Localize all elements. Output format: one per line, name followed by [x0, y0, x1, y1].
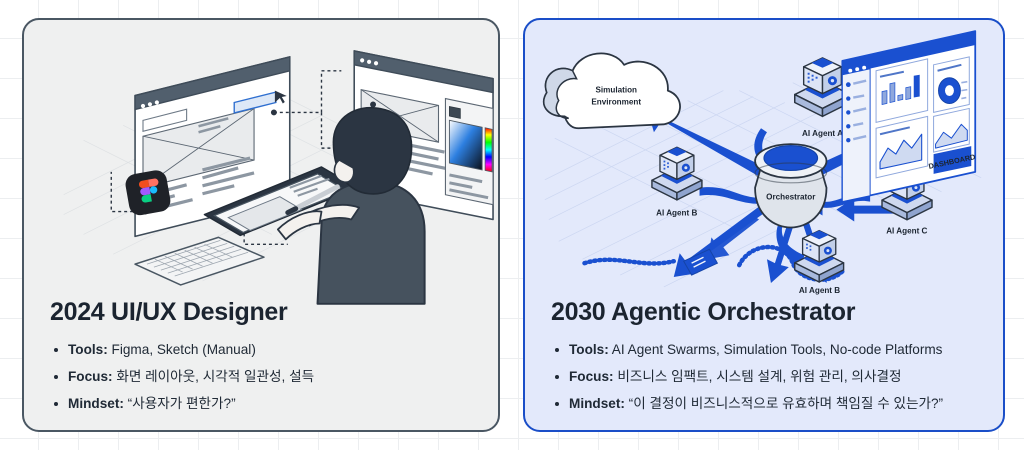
panel-2024-designer: 2024 UI/UX Designer Tools: Figma, Sketch…	[22, 18, 500, 432]
node-ai-agent-b-left: AI Agent B	[652, 147, 702, 217]
list-item: Focus: 비즈니스 임팩트, 시스템 설계, 위험 관리, 의사결정	[551, 367, 977, 387]
node-label-line1: Simulation	[595, 86, 637, 95]
page-title: 2030 Agentic Orchestrator	[551, 298, 977, 327]
node-label: Orchestrator	[766, 193, 816, 202]
panel-2030-orchestrator: Simulation Environment	[523, 18, 1005, 432]
node-label: AI Agent C	[886, 226, 927, 235]
bullet-label: Mindset:	[68, 396, 124, 411]
bullet-label: Mindset:	[569, 396, 625, 411]
bullet-value: Figma, Sketch (Manual)	[112, 342, 256, 357]
node-ai-agent-b-bottom: AI Agent B	[795, 231, 844, 295]
list-item: Focus: 화면 레이아웃, 시각적 일관성, 설득	[50, 367, 472, 387]
node-label: AI Agent B	[656, 209, 697, 218]
bullet-value: “사용자가 편한가?”	[128, 396, 236, 411]
node-analytics-dashboard: DASHBOARD	[842, 31, 976, 202]
node-label-line2: Environment	[591, 97, 641, 106]
bullet-value: 화면 레이아웃, 시각적 일관성, 설득	[116, 369, 314, 384]
donut-chart-widget	[934, 57, 970, 113]
list-item: Mindset: “사용자가 편한가?”	[50, 394, 472, 414]
list-item: Mindset: “이 결정이 비즈니스적으로 유효하며 책임질 수 있는가?”	[551, 394, 977, 414]
bullet-label: Tools:	[569, 342, 609, 357]
bullet-value: 비즈니스 임팩트, 시스템 설계, 위험 관리, 의사결정	[617, 369, 901, 384]
color-picker-panel	[445, 99, 493, 205]
panel-left-text: 2024 UI/UX Designer Tools: Figma, Sketch…	[24, 298, 498, 421]
figma-logo-icon	[124, 169, 172, 217]
keyboard	[135, 237, 264, 285]
bullet-value: AI Agent Swarms, Simulation Tools, No-co…	[612, 342, 943, 357]
node-orchestrator: Orchestrator	[755, 144, 826, 227]
bullet-label: Focus:	[569, 369, 614, 384]
list-item: Tools: AI Agent Swarms, Simulation Tools…	[551, 340, 977, 360]
bullet-label: Tools:	[68, 342, 108, 357]
designer-illustration	[24, 20, 498, 305]
list-item: Tools: Figma, Sketch (Manual)	[50, 340, 472, 360]
node-label: AI Agent B	[799, 286, 840, 295]
bullet-value: “이 결정이 비즈니스적으로 유효하며 책임질 수 있는가?”	[629, 396, 943, 411]
bullet-list: Tools: Figma, Sketch (Manual) Focus: 화면 …	[50, 340, 472, 414]
node-label: AI Agent A	[802, 129, 843, 138]
bullet-list: Tools: AI Agent Swarms, Simulation Tools…	[551, 340, 977, 414]
orchestration-illustration: Simulation Environment	[525, 20, 1003, 305]
page-title: 2024 UI/UX Designer	[50, 298, 472, 327]
secondary-chart-widget	[934, 108, 970, 152]
node-simulation-environment: Simulation Environment	[544, 53, 680, 128]
bullet-label: Focus:	[68, 369, 113, 384]
panel-right-text: 2030 Agentic Orchestrator Tools: AI Agen…	[525, 298, 1003, 421]
